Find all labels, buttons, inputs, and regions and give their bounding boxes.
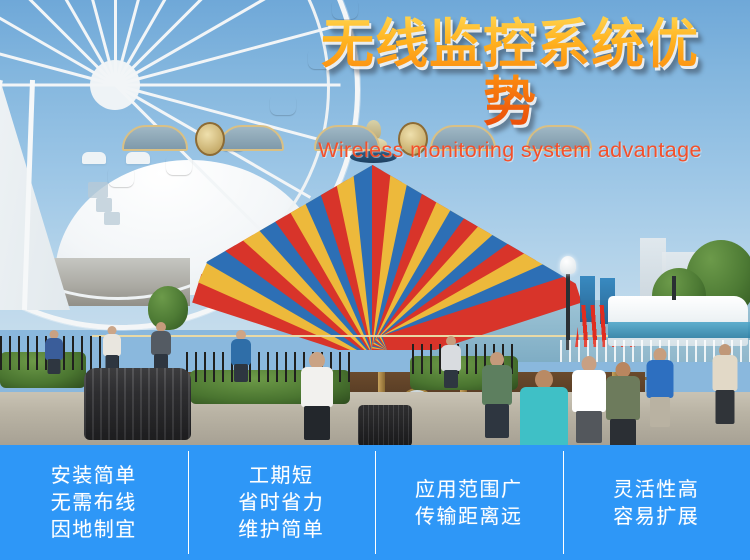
- pedestrian-legs: [716, 390, 735, 424]
- pedestrian: [482, 352, 512, 438]
- pedestrian-torso: [231, 339, 251, 365]
- pedestrian: [606, 362, 640, 445]
- feature-line: 应用范围广: [415, 476, 523, 503]
- pedestrian-torso: [103, 334, 121, 356]
- pedestrian-torso: [572, 370, 606, 412]
- pedestrian-legs: [444, 370, 458, 388]
- pedestrian-torso: [647, 360, 674, 398]
- pedestrian-torso: [606, 376, 640, 420]
- trash-bin: [84, 368, 191, 440]
- feature-line: 省时省力: [238, 489, 324, 516]
- pedestrian-legs: [650, 397, 670, 427]
- pedestrian-torso: [151, 331, 171, 355]
- boat-hull-stripe: [608, 322, 750, 338]
- pedestrian: [520, 370, 568, 445]
- lamp-post: [566, 268, 570, 350]
- feature-column-4[interactable]: 灵活性高 容易扩展: [563, 445, 750, 560]
- pedestrian: [646, 348, 674, 428]
- page-subtitle: Wireless monitoring system advantage: [300, 138, 720, 162]
- ferris-wheel-spoke: [0, 84, 116, 87]
- pedestrian-legs: [48, 359, 61, 374]
- promo-banner: 无线监控系统优势 Wireless monitoring system adva…: [0, 0, 750, 560]
- pedestrian: [102, 326, 122, 372]
- feature-line: 无需布线: [51, 489, 137, 516]
- pedestrian: [572, 356, 606, 442]
- feature-line: 安装简单: [51, 462, 137, 489]
- feature-line: 灵活性高: [613, 476, 699, 503]
- feature-line: 维护简单: [238, 516, 324, 543]
- pedestrian-legs: [234, 364, 248, 382]
- feature-column-1[interactable]: 安装简单 无需布线 因地制宜: [0, 445, 188, 560]
- pedestrian: [440, 336, 462, 388]
- trash-bin: [358, 405, 412, 445]
- pedestrian-legs: [485, 404, 509, 438]
- pedestrian-legs: [304, 406, 330, 440]
- feature-line: 容易扩展: [613, 503, 699, 530]
- ferris-wheel-gondola: [270, 96, 296, 115]
- pedestrian-torso: [713, 355, 738, 391]
- feature-line: 工期短: [249, 462, 314, 489]
- pedestrian: [44, 330, 64, 374]
- pedestrian-legs: [576, 411, 602, 443]
- pedestrian: [150, 322, 172, 372]
- feature-bar: 安装简单 无需布线 因地制宜 工期短 省时省力 维护简单 应用范围广 传输距离远…: [0, 445, 750, 560]
- lamp-head-icon: [560, 256, 576, 274]
- pedestrian: [300, 352, 334, 440]
- cornice-panel: [218, 125, 284, 151]
- feature-line: 传输距离远: [415, 503, 523, 530]
- pedestrian-torso: [482, 365, 512, 405]
- page-title: 无线监控系统优势: [300, 16, 720, 132]
- feature-line: 因地制宜: [51, 516, 137, 543]
- pedestrian-torso: [45, 338, 63, 360]
- pedestrian-torso: [301, 367, 333, 407]
- pedestrian-torso: [520, 387, 568, 445]
- boat-mast: [672, 276, 676, 300]
- feature-column-2[interactable]: 工期短 省时省力 维护简单: [188, 445, 376, 560]
- pedestrian-legs: [610, 419, 636, 445]
- headline-block: 无线监控系统优势 Wireless monitoring system adva…: [300, 16, 720, 116]
- docked-boat: [608, 296, 748, 346]
- pedestrian: [712, 344, 738, 426]
- pedestrian-torso: [441, 345, 461, 371]
- cornice-panel: [122, 125, 188, 151]
- pedestrian: [230, 330, 252, 382]
- cornice-medallion: [195, 122, 225, 156]
- feature-column-3[interactable]: 应用范围广 传输距离远: [375, 445, 563, 560]
